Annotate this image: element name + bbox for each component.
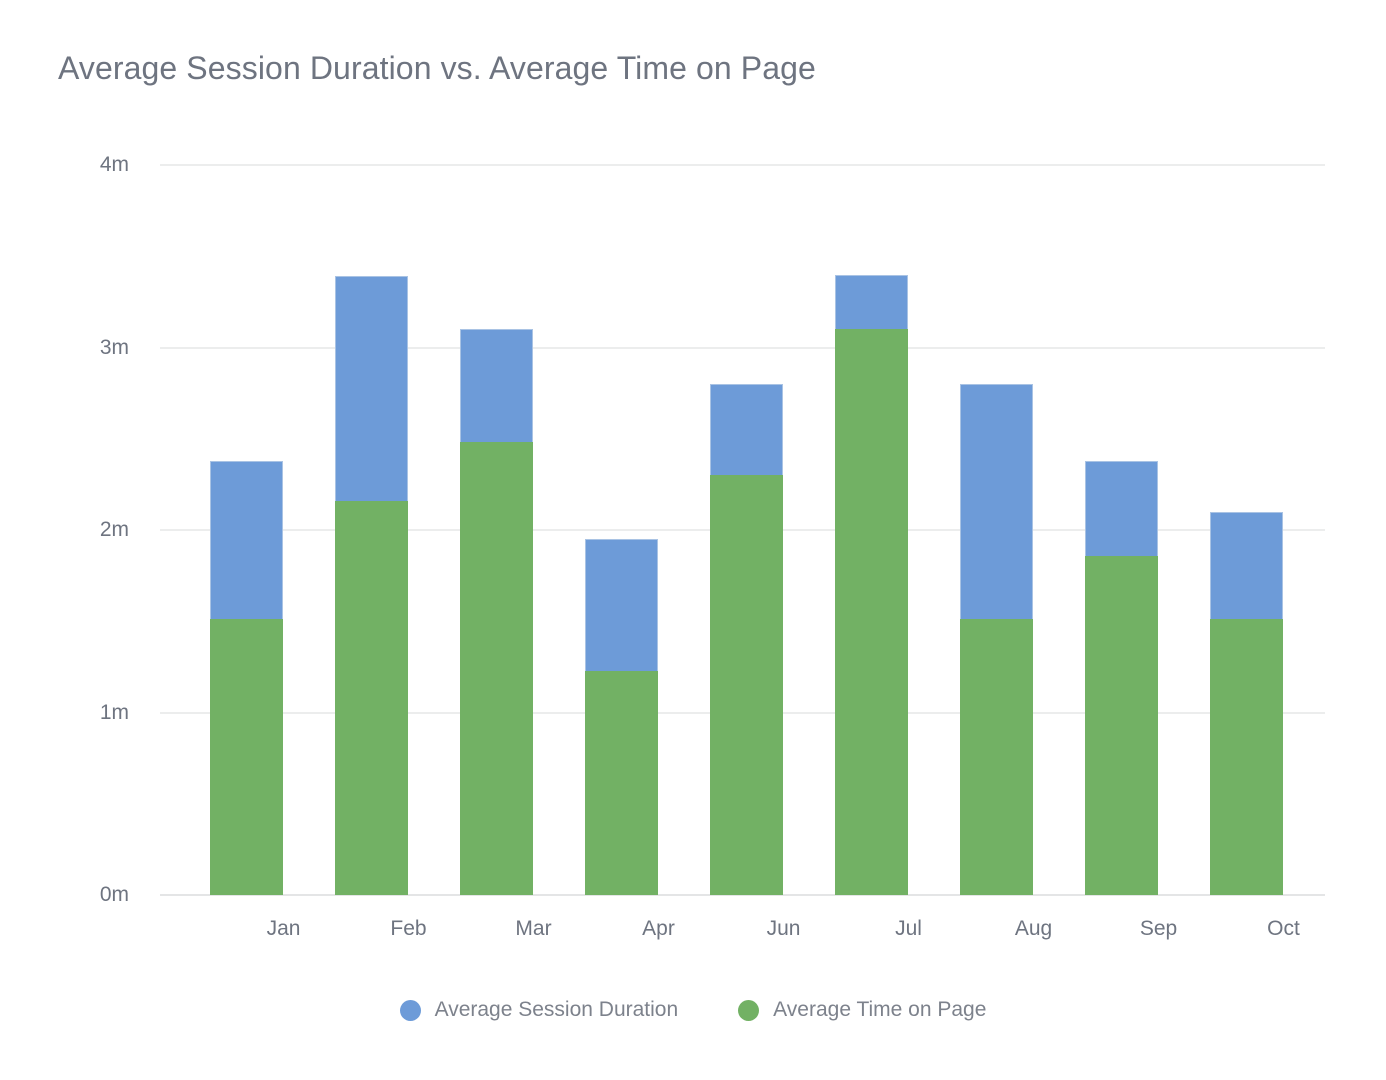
y-axis-tick-label: 3m xyxy=(9,336,129,360)
bar-group[interactable] xyxy=(210,461,283,895)
chart-card: Average Session Duration vs. Average Tim… xyxy=(0,0,1386,1080)
y-axis-tick-label: 2m xyxy=(9,518,129,542)
bar-segment-average-time-on-page[interactable] xyxy=(960,619,1033,895)
legend-item[interactable]: Average Time on Page xyxy=(738,998,986,1022)
bar-segment-average-time-on-page[interactable] xyxy=(210,619,283,895)
bar-group[interactable] xyxy=(335,276,408,895)
x-axis-tick-label: Feb xyxy=(339,917,479,941)
circle-icon xyxy=(400,1000,421,1021)
bar-segment-average-session-duration[interactable] xyxy=(335,276,408,500)
bar-segment-average-time-on-page[interactable] xyxy=(585,671,658,895)
bar-group[interactable] xyxy=(585,539,658,895)
bar-segment-average-time-on-page[interactable] xyxy=(835,329,908,895)
bar-group[interactable] xyxy=(1210,512,1283,895)
x-axis-tick-label: Jul xyxy=(839,917,979,941)
x-axis-tick-label: Apr xyxy=(589,917,729,941)
y-axis-tick-label: 4m xyxy=(9,153,129,177)
bar-segment-average-time-on-page[interactable] xyxy=(1210,619,1283,895)
x-axis-tick-label: Aug xyxy=(964,917,1104,941)
bar-segment-average-time-on-page[interactable] xyxy=(710,475,783,895)
bar-group[interactable] xyxy=(835,275,908,896)
chart-legend: Average Session DurationAverage Time on … xyxy=(0,998,1386,1022)
x-axis-tick-label: Sep xyxy=(1089,917,1229,941)
bar-segment-average-session-duration[interactable] xyxy=(960,384,1033,619)
x-axis-tick-label: Oct xyxy=(1214,917,1354,941)
legend-item-label: Average Time on Page xyxy=(773,998,986,1022)
bar-group[interactable] xyxy=(960,384,1033,895)
legend-item-label: Average Session Duration xyxy=(435,998,679,1022)
x-axis-tick-label: Mar xyxy=(464,917,604,941)
x-axis-tick-label: Jun xyxy=(714,917,854,941)
bar-segment-average-session-duration[interactable] xyxy=(460,329,533,442)
bar-segment-average-session-duration[interactable] xyxy=(1210,512,1283,620)
legend-item[interactable]: Average Session Duration xyxy=(400,998,679,1022)
y-axis-tick-label: 1m xyxy=(9,701,129,725)
y-axis-tick-label: 0m xyxy=(9,883,129,907)
bar-segment-average-time-on-page[interactable] xyxy=(335,501,408,895)
bar-group[interactable] xyxy=(1085,461,1158,895)
bar-segment-average-session-duration[interactable] xyxy=(585,539,658,670)
bar-segment-average-session-duration[interactable] xyxy=(710,384,783,475)
gridline xyxy=(160,164,1325,166)
circle-icon xyxy=(738,1000,759,1021)
bar-segment-average-time-on-page[interactable] xyxy=(1085,556,1158,895)
bar-segment-average-session-duration[interactable] xyxy=(210,461,283,620)
x-axis-tick-label: Jan xyxy=(214,917,354,941)
plot-area: 4m3m2m1m0m JanFebMarAprJunJulAugSepOct xyxy=(160,165,1325,895)
chart-title: Average Session Duration vs. Average Tim… xyxy=(58,50,816,87)
bar-segment-average-session-duration[interactable] xyxy=(1085,461,1158,556)
bar-group[interactable] xyxy=(710,384,783,895)
bar-group[interactable] xyxy=(460,329,533,895)
bar-segment-average-time-on-page[interactable] xyxy=(460,442,533,895)
bar-segment-average-session-duration[interactable] xyxy=(835,275,908,330)
